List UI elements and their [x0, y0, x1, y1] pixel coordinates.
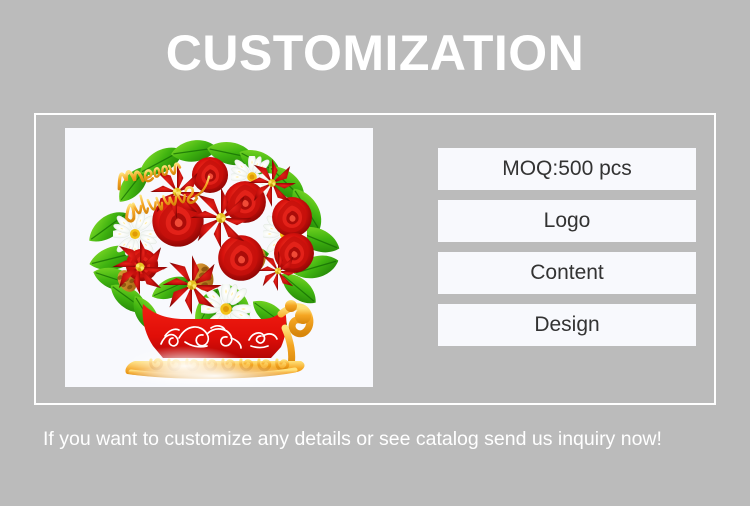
red-rose	[192, 157, 228, 193]
option-design[interactable]: Design	[438, 304, 696, 346]
option-content[interactable]: Content	[438, 252, 696, 294]
option-logo[interactable]: Logo	[438, 200, 696, 242]
red-rose	[218, 235, 264, 281]
customization-banner: CUSTOMIZATION	[0, 0, 750, 506]
option-moq[interactable]: MOQ:500 pcs	[438, 148, 696, 190]
page-title: CUSTOMIZATION	[0, 28, 750, 78]
customization-options: MOQ:500 pcs Logo Content Design	[438, 148, 696, 346]
red-rose	[224, 181, 266, 223]
red-rose	[272, 197, 312, 237]
christmas-sleigh-icon	[65, 128, 373, 387]
red-rose	[274, 233, 314, 273]
product-image-panel	[65, 128, 373, 387]
footer-caption: If you want to customize any details or …	[43, 428, 723, 451]
